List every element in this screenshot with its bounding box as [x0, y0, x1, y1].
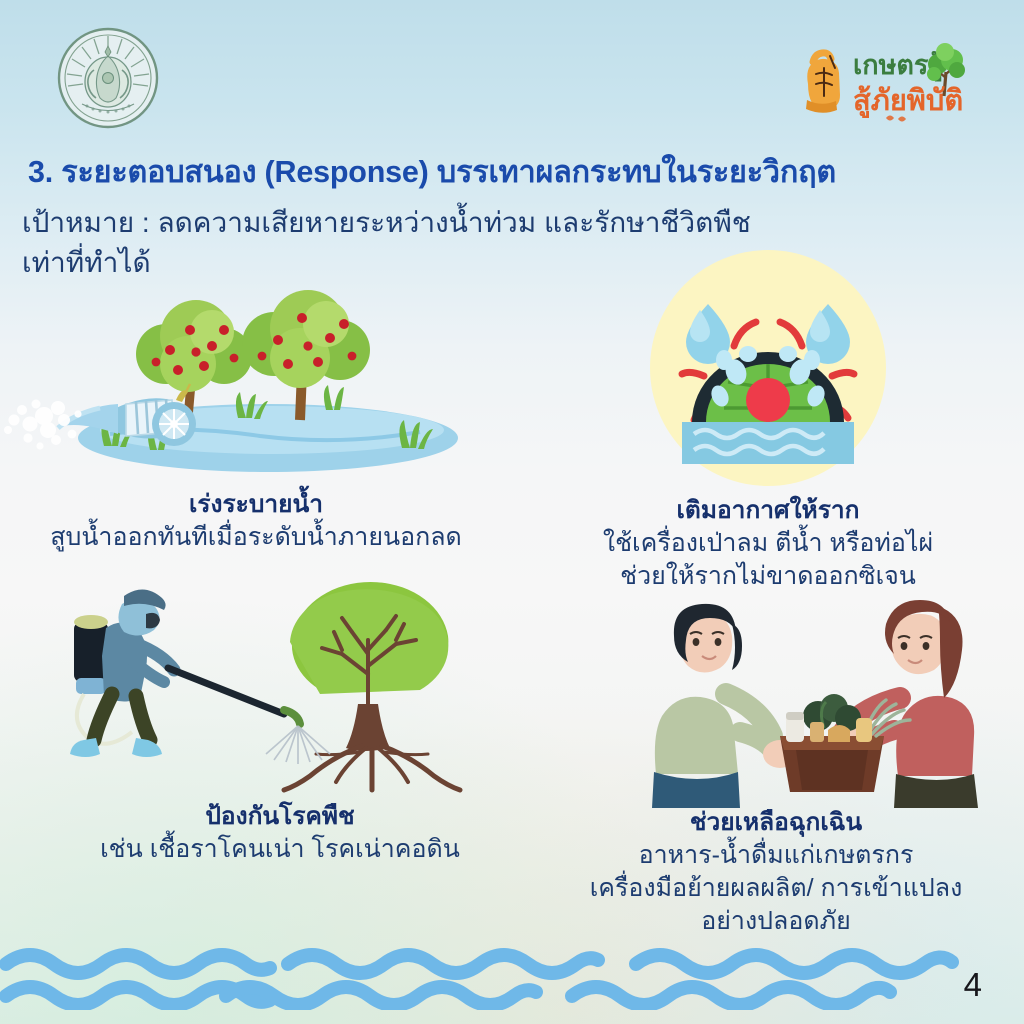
item-aerate-roots: เติมอากาศให้ราก ใช้เครื่องเป่าลม ตีน้ำ ห…: [512, 248, 1024, 593]
root-aeration-illustration: [512, 248, 1024, 496]
item-heading: เร่งระบายน้ำ: [0, 490, 512, 521]
ministry-of-agriculture-seal-icon: [56, 26, 160, 130]
blue-wave-decoration-icon: [0, 938, 1024, 1010]
water-pump-draining-pond-illustration: [0, 258, 512, 490]
item-body-line: อาหาร-น้ำดื่มแก่เกษตรกร: [528, 839, 1024, 872]
item-drain-water: เร่งระบายน้ำ สูบน้ำออกทันทีเมื่อระดับน้ำ…: [0, 258, 512, 554]
item-body: อาหาร-น้ำดื่มแก่เกษตรกร เครื่องมือย้ายผล…: [528, 839, 1024, 939]
item-heading: ช่วยเหลือฉุกเฉิน: [528, 808, 1024, 839]
subtitle-line-1: เป้าหมาย : ลดความเสียหายระหว่างน้ำท่วม แ…: [22, 203, 922, 243]
item-emergency-relief: ช่วยเหลือฉุกเฉิน อาหาร-น้ำดื่มแก่เกษตรกร…: [528, 590, 1024, 938]
item-heading: เติมอากาศให้ราก: [512, 496, 1024, 527]
page-title: 3. ระยะตอบสนอง (Response) บรรเทาผลกระทบใ…: [28, 155, 1008, 191]
item-body-line: เครื่องมือย้ายผลผลิต/ การเข้าแปลง: [528, 872, 1024, 905]
item-body-line: ช่วยให้รากไม่ขาดออกซิเจน: [512, 560, 1024, 593]
brand-logo-line2-text: สู้ภัยพิบัติ: [853, 85, 963, 118]
fist-and-tree-logo-icon: เกษตรรู้ สู้ภัยพิบัติ: [794, 34, 976, 126]
item-prevent-plant-disease: ป้องกันโรคพืช เช่น เชื้อราโคนเน่า โรคเน่…: [40, 570, 520, 866]
item-body: ใช้เครื่องเป่าลม ตีน้ำ หรือท่อไผ่ ช่วยให…: [512, 527, 1024, 594]
item-body: เช่น เชื้อราโคนเน่า โรคเน่าคอดิน: [40, 833, 520, 866]
item-heading: ป้องกันโรคพืช: [40, 802, 520, 833]
item-body-line: ใช้เครื่องเป่าลม ตีน้ำ หรือท่อไผ่: [512, 527, 1024, 560]
emergency-relief-supplies-illustration: [528, 590, 1024, 808]
item-body-line: สูบน้ำออกทันทีเมื่อระดับน้ำภายนอกลด: [0, 521, 512, 554]
infographic-slide: เกษตรรู้ สู้ภัยพิบัติ 3. ระยะตอบสนอง (Re…: [0, 0, 1024, 1024]
item-body-line: อย่างปลอดภัย: [528, 905, 1024, 938]
page-number: 4: [964, 966, 982, 1004]
item-body-line: เช่น เชื้อราโคนเน่า โรคเน่าคอดิน: [40, 833, 520, 866]
item-body: สูบน้ำออกทันทีเมื่อระดับน้ำภายนอกลด: [0, 521, 512, 554]
farmer-spraying-tree-illustration: [40, 570, 520, 802]
